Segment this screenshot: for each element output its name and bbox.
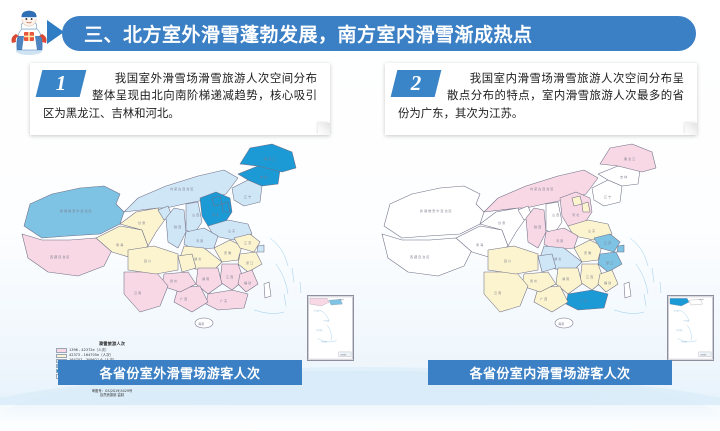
svg-text:海南: 海南 xyxy=(558,321,564,326)
content-columns: 1 我国室外滑雪场滑雪旅游人次空间分布整体呈现由北向南阶梯递减趋势，核心吸引区为… xyxy=(0,60,720,405)
svg-text:四 川: 四 川 xyxy=(504,259,511,263)
note-card: 1 我国室外滑雪场滑雪旅游人次空间分布整体呈现由北向南阶梯递减趋势，核心吸引区为… xyxy=(30,63,330,135)
svg-text:黑 龙 江: 黑 龙 江 xyxy=(624,156,635,161)
svg-text:河 北: 河 北 xyxy=(212,212,220,217)
legend-swatch xyxy=(56,354,67,358)
svg-text:江 苏: 江 苏 xyxy=(604,240,611,245)
svg-text:湖 南: 湖 南 xyxy=(562,276,569,281)
svg-text:湖 北: 湖 北 xyxy=(554,256,562,261)
svg-text:山 西: 山 西 xyxy=(552,212,559,217)
svg-text:江 西: 江 西 xyxy=(586,274,593,279)
legend-label: 42373 - 164705e（人次） xyxy=(69,354,113,358)
note-number: 1 xyxy=(39,70,83,97)
svg-text:云 南: 云 南 xyxy=(494,290,501,295)
map-caption-bar: 各省份室内滑雪场游客人次 xyxy=(428,360,672,385)
svg-text:浙 江: 浙 江 xyxy=(606,260,613,265)
china-choropleth-svg: 新 疆 维 吾 尔 自 治 区 西 藏 自 治 区 青 海 甘 肃 内 蒙 古 … xyxy=(8,142,352,354)
svg-text:山 东: 山 东 xyxy=(228,228,235,233)
map-caption-text: 各省份室内滑雪场游客人次 xyxy=(470,363,631,382)
svg-text:河 南: 河 南 xyxy=(196,238,203,243)
svg-text:广 西: 广 西 xyxy=(540,296,547,301)
map-caption-bar: 各省份室外滑雪场游客人次 xyxy=(58,360,302,385)
note-number-badge: 2 xyxy=(391,70,442,97)
svg-text:黑 龙 江: 黑 龙 江 xyxy=(264,156,275,161)
svg-text:吉 林: 吉 林 xyxy=(620,174,627,179)
svg-text:山 西: 山 西 xyxy=(192,212,199,217)
svg-text:青 海: 青 海 xyxy=(476,242,483,247)
svg-text:安 徽: 安 徽 xyxy=(584,250,592,255)
inset-svg: 东沙群岛 中沙群岛 西沙群岛 南沙群岛 南海诸岛 南海诸岛 xyxy=(308,296,353,360)
svg-text:甘 肃: 甘 肃 xyxy=(498,220,505,225)
svg-text:海南: 海南 xyxy=(198,321,204,326)
svg-text:辽 宁: 辽 宁 xyxy=(604,194,611,199)
svg-text:陕 西: 陕 西 xyxy=(534,224,541,229)
svg-text:安 徽: 安 徽 xyxy=(224,250,232,255)
svg-text:陕 西: 陕 西 xyxy=(174,224,181,229)
svg-text:福 建: 福 建 xyxy=(244,280,251,285)
note-card: 2 我国室内滑雪场滑雪旅游人次空间分布呈散点分布的特点，室内滑雪旅游人次最多的省… xyxy=(385,63,697,135)
svg-text:浙 江: 浙 江 xyxy=(246,260,253,265)
legend-title: 滑雪旅游人次 xyxy=(56,342,168,346)
svg-text:西 藏 自 治 区: 西 藏 自 治 区 xyxy=(50,254,69,259)
svg-text:江 苏: 江 苏 xyxy=(244,240,251,245)
svg-text:山 东: 山 东 xyxy=(588,228,595,233)
svg-text:吉 林: 吉 林 xyxy=(260,174,267,179)
slide-header: 三、北方室外滑雪蓬勃发展，南方室内滑雪渐成热点 xyxy=(0,6,720,58)
svg-text:广 西: 广 西 xyxy=(180,296,187,301)
china-map-outdoor[interactable]: 新 疆 维 吾 尔 自 治 区 西 藏 自 治 区 青 海 甘 肃 内 蒙 古 … xyxy=(8,142,352,354)
svg-text:西 藏 自 治 区: 西 藏 自 治 区 xyxy=(410,254,429,259)
south-china-sea-inset: 东沙群岛 中沙群岛 西沙群岛 南沙群岛 南海诸岛 南海诸岛 xyxy=(307,295,354,361)
svg-text:福 建: 福 建 xyxy=(604,280,611,285)
note-text: 我国室内滑雪场滑雪旅游人次空间分布呈散点分布的特点，室内滑雪旅游人次最多的省份为… xyxy=(398,70,684,122)
header-title-pill: 三、北方室外滑雪蓬勃发展，南方室内滑雪渐成热点 xyxy=(62,16,696,51)
svg-text:内 蒙 古 自 治 区: 内 蒙 古 自 治 区 xyxy=(170,186,193,191)
svg-text:四 川: 四 川 xyxy=(144,259,151,263)
svg-text:云 南: 云 南 xyxy=(134,290,141,295)
page-title: 三、北方室外滑雪蓬勃发展，南方室内滑雪渐成热点 xyxy=(84,20,533,47)
legend-credit-line2: 自然资源部 监制 xyxy=(56,393,168,397)
china-choropleth-svg: 新 疆 维 吾 尔 自 治 区 西 藏 自 治 区 青 海 甘 肃 内 蒙 古 … xyxy=(368,142,712,354)
svg-text:湖 北: 湖 北 xyxy=(194,256,202,261)
svg-text:辽 宁: 辽 宁 xyxy=(244,194,251,199)
legend-label: 1396 - 42372e（人次） xyxy=(69,349,109,353)
svg-text:新 疆 维 吾 尔 自 治 区: 新 疆 维 吾 尔 自 治 区 xyxy=(60,208,92,213)
panel-indoor-skiing: 2 我国室内滑雪场滑雪旅游人次空间分布呈散点分布的特点，室内滑雪旅游人次最多的省… xyxy=(360,60,720,405)
svg-text:河 南: 河 南 xyxy=(556,238,563,243)
svg-text:贵 州: 贵 州 xyxy=(170,278,177,283)
svg-text:甘 肃: 甘 肃 xyxy=(138,220,145,225)
legend-swatch xyxy=(56,348,67,352)
south-china-sea-inset: 东沙群岛 中沙群岛 西沙群岛 南沙群岛 南海诸岛 南海诸岛 xyxy=(667,295,714,361)
svg-text:新 疆 维 吾 尔 自 治 区: 新 疆 维 吾 尔 自 治 区 xyxy=(420,208,452,213)
snowman-mascot-icon xyxy=(6,8,52,56)
svg-text:青 海: 青 海 xyxy=(116,242,123,247)
svg-text:广 东: 广 东 xyxy=(220,298,227,303)
svg-text:内 蒙 古 自 治 区: 内 蒙 古 自 治 区 xyxy=(530,186,553,191)
svg-text:广 东: 广 东 xyxy=(580,298,587,303)
note-number-badge: 1 xyxy=(36,70,87,97)
inset-svg: 东沙群岛 中沙群岛 西沙群岛 南沙群岛 南海诸岛 南海诸岛 xyxy=(668,296,713,360)
note-number: 2 xyxy=(394,70,438,97)
china-map-indoor[interactable]: 新 疆 维 吾 尔 自 治 区 西 藏 自 治 区 青 海 甘 肃 内 蒙 古 … xyxy=(368,142,712,354)
legend-credit: 审图号：GS(2019)3429号 自然资源部 监制 xyxy=(56,389,168,397)
svg-text:河 北: 河 北 xyxy=(572,212,580,217)
svg-text:江 西: 江 西 xyxy=(226,274,233,279)
svg-text:贵 州: 贵 州 xyxy=(530,278,537,283)
panel-outdoor-skiing: 1 我国室外滑雪场滑雪旅游人次空间分布整体呈现由北向南阶梯递减趋势，核心吸引区为… xyxy=(0,60,360,405)
svg-text:湖 南: 湖 南 xyxy=(202,276,209,281)
map-caption-text: 各省份室外滑雪场游客人次 xyxy=(100,363,261,382)
